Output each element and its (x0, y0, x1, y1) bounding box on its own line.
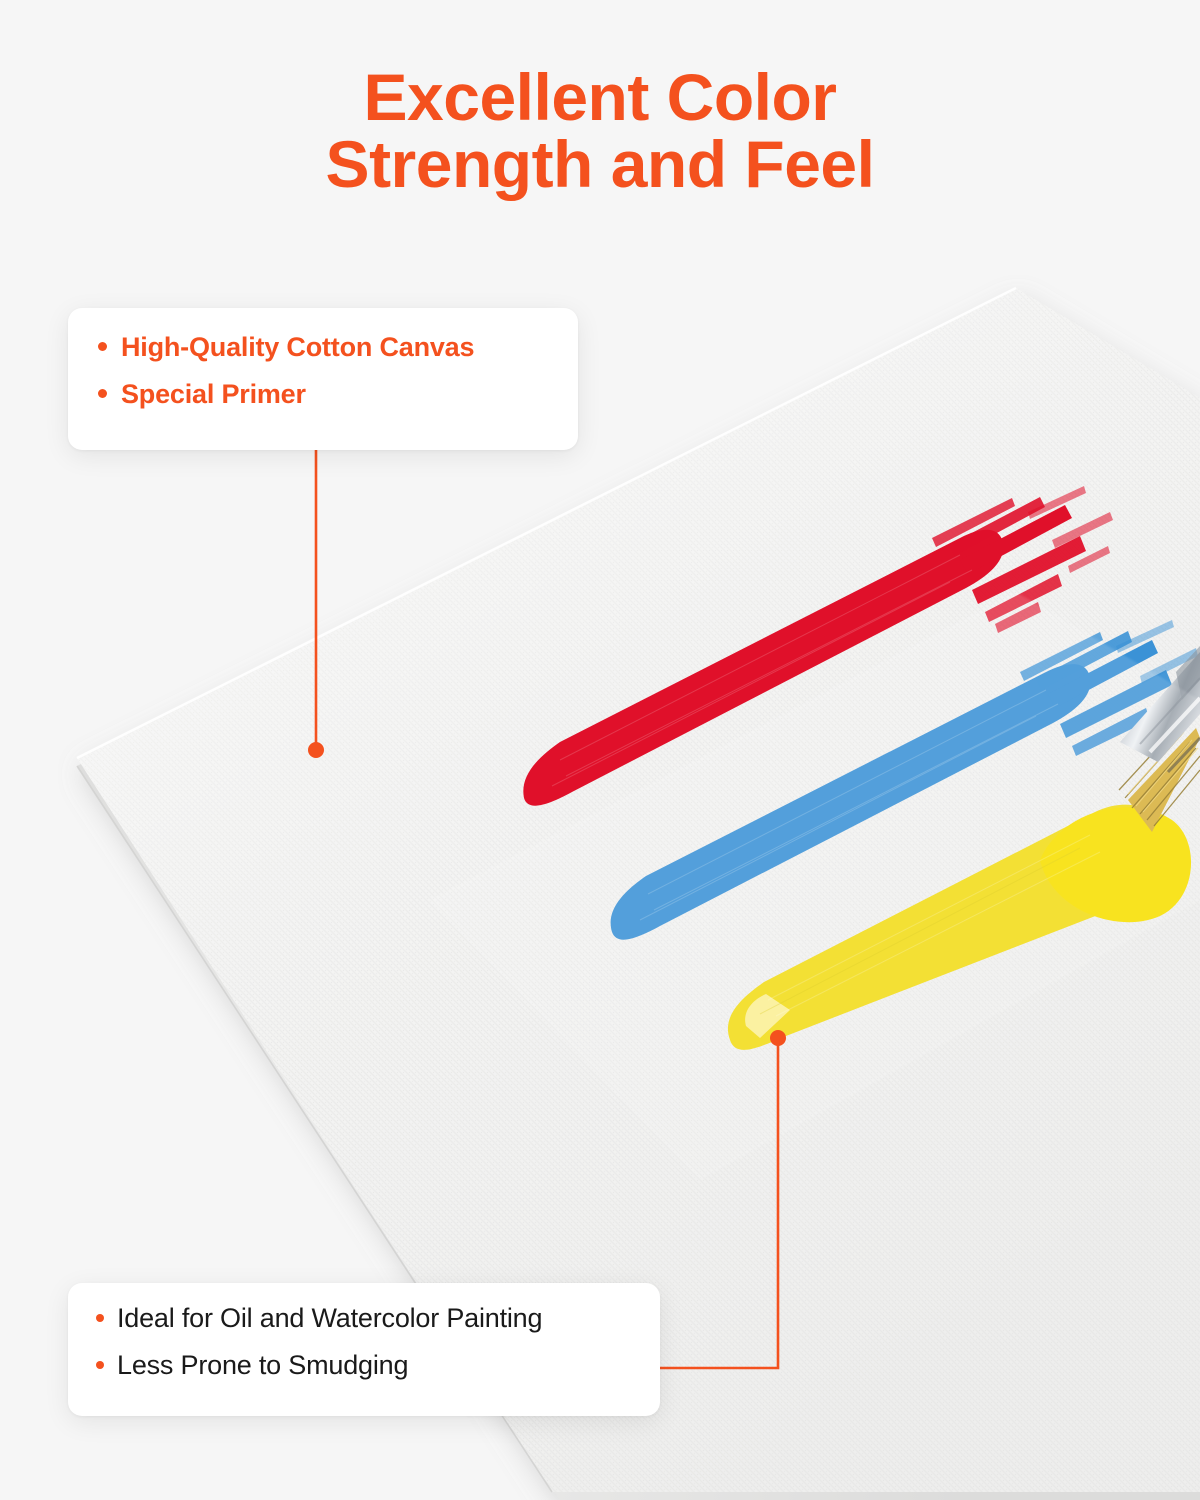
callout-box-top: High-Quality Cotton Canvas Special Prime… (68, 308, 578, 450)
page-title-line-2: Strength and Feel (0, 131, 1200, 198)
infographic-page: Excellent Color Strength and Feel High-Q… (0, 0, 1200, 1500)
page-title: Excellent Color Strength and Feel (0, 64, 1200, 199)
bullet-dot-icon (98, 342, 107, 351)
bullet-dot-icon (96, 1361, 104, 1369)
page-title-line-1: Excellent Color (0, 64, 1200, 131)
callout-top-bullet-1-label: High-Quality Cotton Canvas (121, 334, 474, 361)
callout-top-bullet-2-label: Special Primer (121, 381, 306, 408)
bullet-dot-icon (96, 1314, 104, 1322)
list-item: Special Primer (98, 381, 548, 408)
callout-bottom-bullet-2-label: Less Prone to Smudging (117, 1352, 408, 1379)
list-item: High-Quality Cotton Canvas (98, 334, 548, 361)
bullet-dot-icon (98, 389, 107, 398)
callout-box-bottom: Ideal for Oil and Watercolor Painting Le… (68, 1283, 660, 1416)
canvas-artwork (0, 0, 1200, 1500)
list-item: Ideal for Oil and Watercolor Painting (96, 1305, 632, 1332)
callout-bottom-bullet-1-label: Ideal for Oil and Watercolor Painting (117, 1305, 542, 1332)
canvas-board-illustration (0, 0, 1200, 1500)
list-item: Less Prone to Smudging (96, 1352, 632, 1379)
